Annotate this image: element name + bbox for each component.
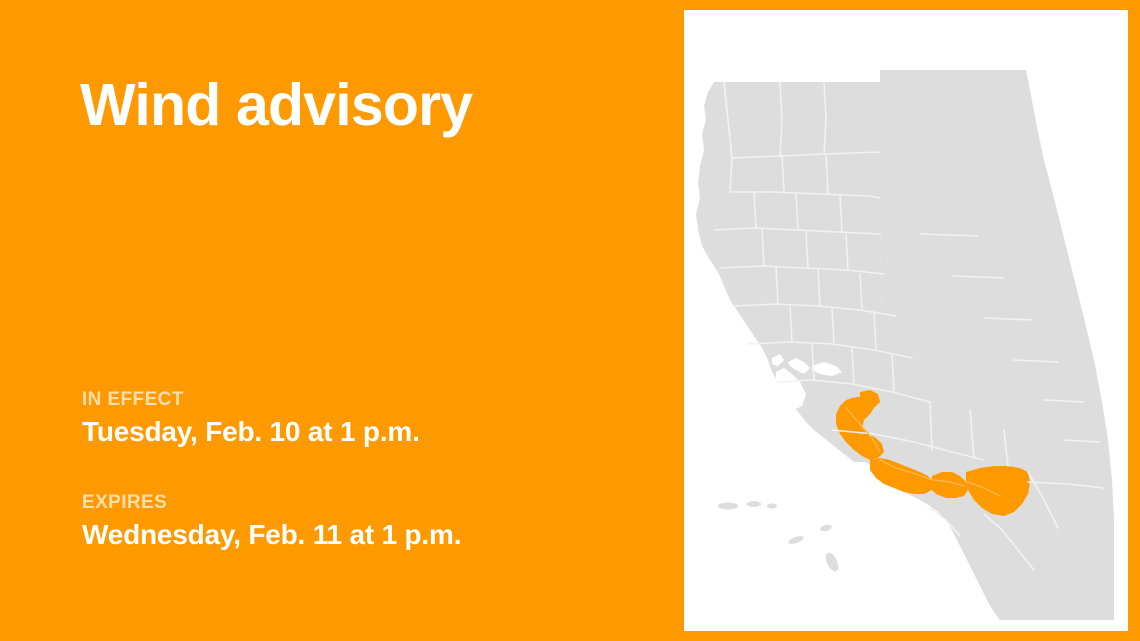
- expires-value: Wednesday, Feb. 11 at 1 p.m.: [82, 520, 461, 549]
- advisory-info-panel: Wind advisory IN EFFECT Tuesday, Feb. 10…: [0, 0, 684, 641]
- in-effect-label: IN EFFECT: [82, 390, 420, 409]
- page-title: Wind advisory: [80, 76, 472, 135]
- california-map: [684, 10, 1128, 631]
- southern-coast-cutout: [684, 462, 906, 631]
- wind-advisory-graphic: Wind advisory IN EFFECT Tuesday, Feb. 10…: [0, 0, 1140, 641]
- expires-block: EXPIRES Wednesday, Feb. 11 at 1 p.m.: [82, 493, 461, 549]
- in-effect-block: IN EFFECT Tuesday, Feb. 10 at 1 p.m.: [82, 390, 420, 446]
- map-panel: [684, 10, 1128, 631]
- expires-label: EXPIRES: [82, 493, 461, 512]
- in-effect-value: Tuesday, Feb. 10 at 1 p.m.: [82, 417, 420, 446]
- map-frame-accent: [1128, 0, 1140, 641]
